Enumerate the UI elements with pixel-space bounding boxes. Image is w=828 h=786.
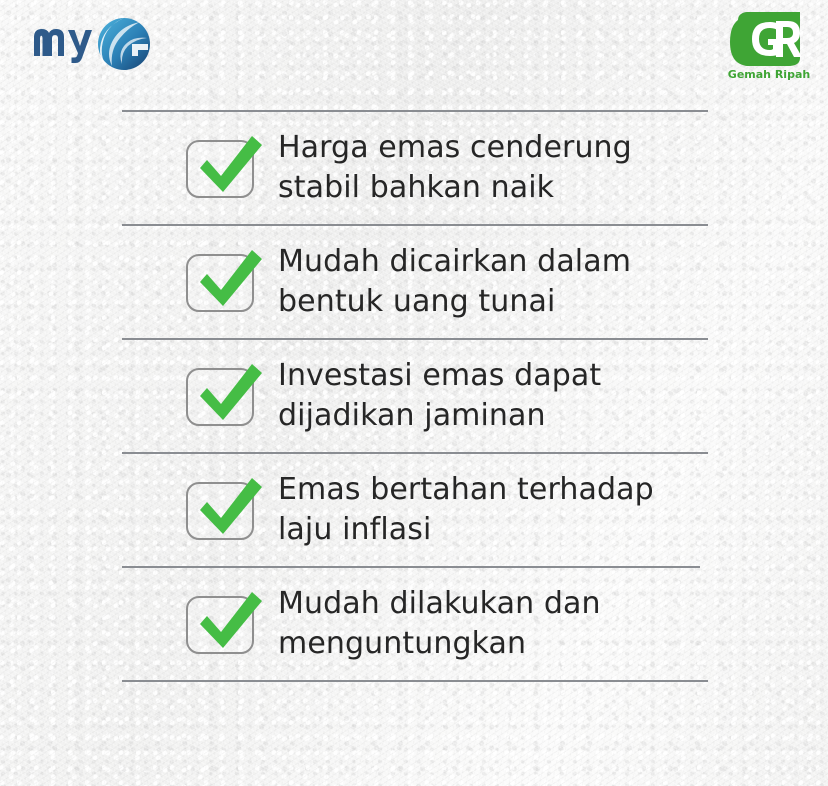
check-icon — [190, 132, 268, 204]
list-item-label: Mudah dicairkan dalam bentuk uang tunai — [278, 242, 631, 323]
infographic-page: Gemah Ripah Harga emas cenderung stabil … — [0, 0, 828, 786]
list-item-label: Harga emas cenderung stabil bahkan naik — [278, 128, 632, 209]
check-icon — [190, 588, 268, 660]
checkbox-checked[interactable] — [186, 588, 264, 660]
list-item-label: Emas bertahan terhadap laju inflasi — [278, 470, 654, 551]
brand-logo-mykg — [28, 12, 158, 74]
checkbox-checked[interactable] — [186, 360, 264, 432]
gemah-ripah-caption: Gemah Ripah — [728, 68, 810, 81]
divider-bottom — [122, 680, 708, 682]
checkbox-checked[interactable] — [186, 474, 264, 546]
brand-logo-gemah-ripah: Gemah Ripah — [726, 8, 812, 84]
benefits-checklist: Harga emas cenderung stabil bahkan naik … — [122, 110, 708, 682]
check-icon — [190, 246, 268, 318]
checkbox-checked[interactable] — [186, 132, 264, 204]
check-icon — [190, 474, 268, 546]
list-item[interactable]: Mudah dicairkan dalam bentuk uang tunai — [122, 226, 708, 338]
check-icon — [190, 360, 268, 432]
mykg-logo-icon — [28, 12, 158, 74]
list-item[interactable]: Emas bertahan terhadap laju inflasi — [122, 454, 708, 566]
list-item[interactable]: Investasi emas dapat dijadikan jaminan — [122, 340, 708, 452]
list-item-label: Investasi emas dapat dijadikan jaminan — [278, 356, 601, 437]
checkbox-checked[interactable] — [186, 246, 264, 318]
list-item[interactable]: Mudah dilakukan dan menguntungkan — [122, 568, 708, 680]
list-item[interactable]: Harga emas cenderung stabil bahkan naik — [122, 112, 708, 224]
list-item-label: Mudah dilakukan dan menguntungkan — [278, 584, 601, 665]
gemah-ripah-logo-icon: Gemah Ripah — [726, 8, 812, 84]
